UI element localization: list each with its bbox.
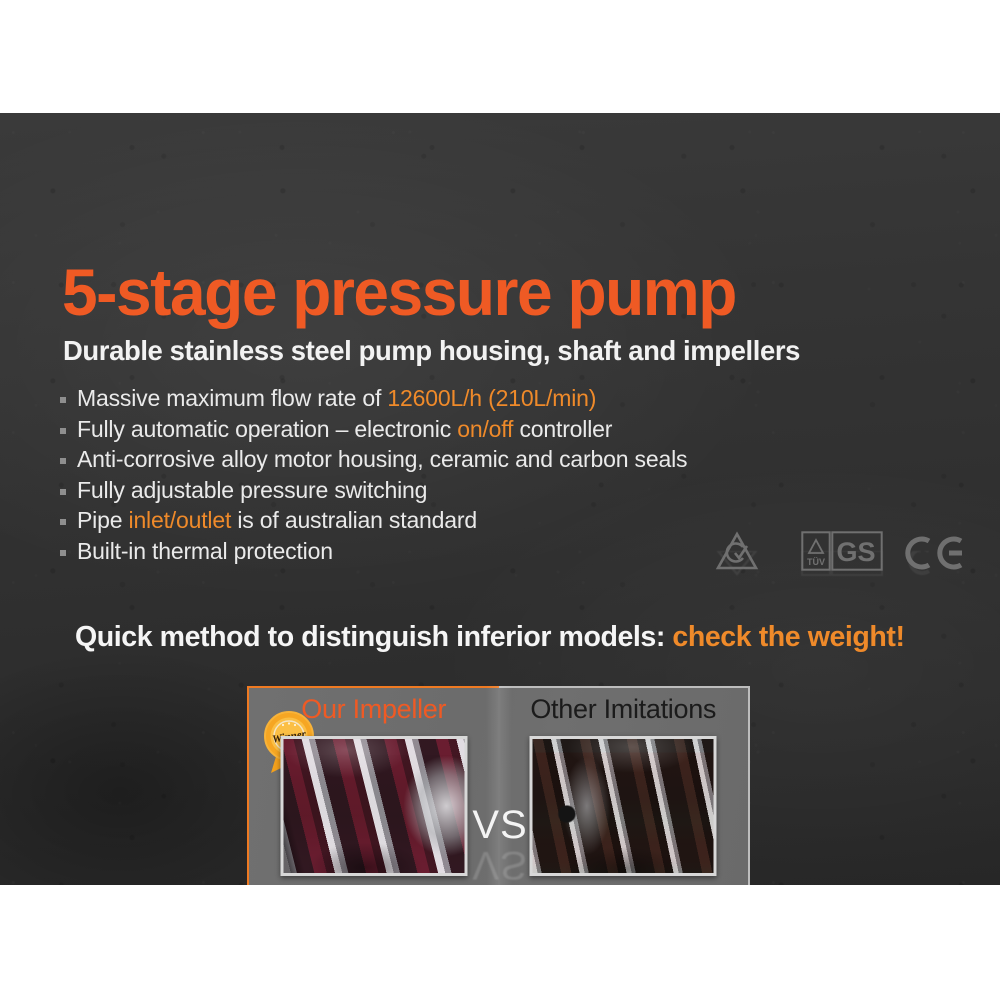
certification-marks-reflection [715, 551, 930, 577]
list-item: Fully adjustable pressure switching [60, 477, 840, 508]
comparison-ours: Our Impeller Winner [247, 686, 499, 885]
feature-text: Anti-corrosive alloy motor housing, cera… [77, 446, 687, 473]
dark-background-panel: 5-stage pressure pump Durable stainless … [0, 113, 1000, 885]
bullet-square-icon [60, 458, 66, 464]
theirs-impeller-photo [530, 736, 717, 876]
feature-text: Massive maximum flow rate of 12600L/h (2… [77, 385, 596, 412]
page-title: 5-stage pressure pump [62, 254, 736, 330]
feature-text: Fully adjustable pressure switching [77, 477, 427, 504]
bullet-square-icon [60, 489, 66, 495]
plastic-impeller-image [533, 739, 714, 873]
feature-text: Pipe inlet/outlet is of australian stand… [77, 507, 477, 534]
list-item: Fully automatic operation – electronic o… [60, 416, 840, 447]
feature-text: Built-in thermal protection [77, 538, 333, 565]
vs-label-reflection: VS [472, 842, 527, 885]
page-subtitle: Durable stainless steel pump housing, sh… [63, 335, 800, 367]
product-infographic: 5-stage pressure pump Durable stainless … [0, 0, 1000, 1000]
bullet-square-icon [60, 519, 66, 525]
quick-method-heading: Quick method to distinguish inferior mod… [75, 621, 905, 654]
feature-text: Fully automatic operation – electronic o… [77, 416, 612, 443]
bullet-square-icon [60, 550, 66, 556]
stainless-impeller-image [283, 739, 464, 873]
bullet-square-icon [60, 428, 66, 434]
list-item: Anti-corrosive alloy motor housing, cera… [60, 446, 840, 477]
theirs-caption: Inferior plastic impeller [499, 884, 749, 885]
bullet-square-icon [60, 397, 66, 403]
list-item: Massive maximum flow rate of 12600L/h (2… [60, 385, 840, 416]
certification-marks: TÜV GS [715, 531, 930, 577]
comparison-theirs: Other Imitations Inferior plastic impell… [499, 686, 751, 885]
ours-caption: High Quality Stainless Steel impeller [249, 884, 499, 885]
theirs-title: Other Imitations [499, 694, 749, 725]
ours-impeller-photo [280, 736, 467, 876]
